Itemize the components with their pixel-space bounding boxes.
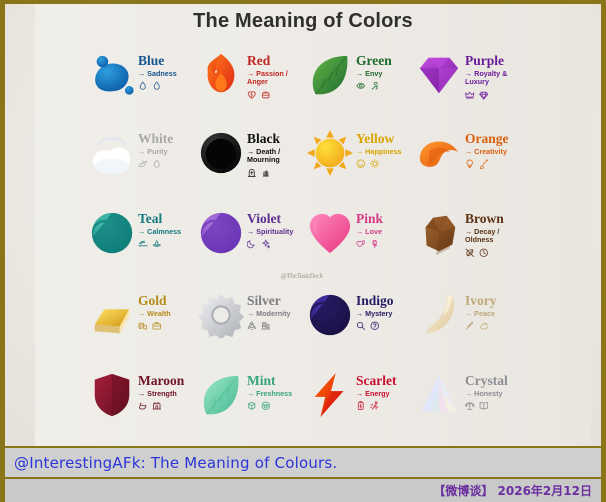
color-meaning: → Death / Mourning <box>247 148 307 166</box>
color-illustration <box>89 372 135 418</box>
color-name: Red <box>247 54 270 68</box>
color-icon-row <box>247 90 270 100</box>
color-entry-white: White→ Purity <box>89 124 198 204</box>
sun-illustration <box>307 130 353 182</box>
heart-illustration <box>307 210 353 262</box>
color-meaning: → Purity <box>138 148 168 157</box>
color-entry-brown: Brown→ Decay / Oldness <box>416 204 525 286</box>
building-icon <box>261 321 271 331</box>
spiral-illustration <box>307 292 353 344</box>
color-meaning: → Mystery <box>356 310 392 319</box>
color-icon-row <box>138 401 161 411</box>
color-icon-row <box>247 401 270 411</box>
cool-face-icon <box>261 401 271 411</box>
color-name: Mint <box>247 374 276 388</box>
color-entry-text: Maroon→ Strength <box>138 374 184 411</box>
color-icon-row <box>465 159 488 169</box>
rocket-icon <box>247 321 257 331</box>
color-entry-text: Scarlet→ Energy <box>356 374 396 411</box>
color-entry-red: Red→ Passion / Anger <box>198 46 307 124</box>
color-meaning: → Wealth <box>138 310 171 319</box>
color-meaning: → Envy <box>356 70 382 79</box>
clock-icon <box>479 248 489 258</box>
color-name: Yellow <box>356 132 394 146</box>
color-illustration <box>416 210 462 256</box>
caption-text: @InterestingAFk: The Meaning of Colours. <box>14 454 337 472</box>
color-icon-row <box>138 159 161 169</box>
color-illustration <box>307 52 353 98</box>
flame-illustration <box>198 52 244 104</box>
tusk-illustration <box>416 292 462 344</box>
color-meaning: → Energy <box>356 390 390 399</box>
color-name: Teal <box>138 212 162 226</box>
color-name: White <box>138 132 173 146</box>
color-entry-text: Black→ Death / Mourning <box>247 132 307 178</box>
color-entry-black: Black→ Death / Mourning <box>198 124 307 204</box>
dead-leaf-icon <box>465 248 475 258</box>
color-name: Black <box>247 132 280 146</box>
color-icon-row <box>247 321 270 331</box>
bar-illustration <box>89 292 135 344</box>
droplet-icon <box>152 159 162 169</box>
color-entry-green: Green→ Envy <box>307 46 416 124</box>
color-name: Blue <box>138 54 164 68</box>
shield-illustration <box>89 372 135 424</box>
bolt-illustration <box>307 372 353 424</box>
color-illustration <box>416 130 462 176</box>
color-entry-maroon: Maroon→ Strength <box>89 366 198 444</box>
blob-illustration <box>89 52 135 104</box>
color-icon-row <box>465 90 488 100</box>
color-entry-text: White→ Purity <box>138 132 173 169</box>
color-meaning: → Happiness <box>356 148 402 157</box>
color-illustration <box>416 52 462 98</box>
color-entry-crystal: Crystal→ Honesty <box>416 366 525 444</box>
diamond-icon <box>479 90 489 100</box>
circle-illustration <box>198 130 244 182</box>
color-meaning: → Spirituality <box>247 228 293 237</box>
color-meaning: → Honesty <box>465 390 503 399</box>
image-frame: The Meaning of Colors Blue→ SadnessRed→ … <box>0 0 606 498</box>
lightbulb-icon <box>465 159 475 169</box>
color-name: Violet <box>247 212 281 226</box>
crown-icon <box>465 90 475 100</box>
color-illustration <box>416 372 462 418</box>
color-icon-row <box>465 248 488 258</box>
color-illustration <box>198 130 244 176</box>
book-icon <box>479 401 489 411</box>
rose-icon <box>370 239 380 249</box>
color-illustration <box>89 130 135 176</box>
tombstone-icon <box>247 168 257 178</box>
caption-bar: @InterestingAFk: The Meaning of Colours. <box>5 446 601 479</box>
page-title: The Meaning of Colors <box>5 10 601 33</box>
color-entry-text: Red→ Passion / Anger <box>247 54 307 100</box>
color-entry-blue: Blue→ Sadness <box>89 46 198 124</box>
color-illustration <box>89 292 135 338</box>
color-icon-row <box>356 401 379 411</box>
color-name: Green <box>356 54 392 68</box>
color-meaning: → Strength <box>138 390 177 399</box>
color-icon-row <box>138 239 161 249</box>
color-icon-row <box>356 81 379 91</box>
date-text: 【微博谈】 2026年2月12日 <box>433 482 592 499</box>
color-entry-text: Indigo→ Mystery <box>356 294 394 331</box>
color-entry-text: Gold→ Wealth <box>138 294 171 331</box>
color-name: Orange <box>465 132 509 146</box>
color-icon-row <box>356 159 379 169</box>
color-illustration <box>89 52 135 98</box>
color-grid: Blue→ SadnessRed→ Passion / AngerGreen→ … <box>89 46 527 444</box>
color-name: Scarlet <box>356 374 396 388</box>
color-entry-purple: Purple→ Royalty & Luxury <box>416 46 525 124</box>
gear-illustration <box>198 292 244 344</box>
color-illustration <box>307 130 353 176</box>
fist-icon <box>261 90 271 100</box>
color-meaning: → Love <box>356 228 382 237</box>
moon-icon <box>247 239 257 249</box>
color-entry-text: Purple→ Royalty & Luxury <box>465 54 525 100</box>
date-bar: 【微博谈】 2026年2月12日 <box>5 479 601 502</box>
battery-icon <box>356 401 366 411</box>
dove-hand-icon <box>479 321 489 331</box>
color-icon-row <box>247 239 270 249</box>
color-entry-yellow: Yellow→ Happiness <box>307 124 416 204</box>
paintbrush-icon <box>479 159 489 169</box>
spiral-illustration <box>198 210 244 262</box>
color-entry-text: Orange→ Creativity <box>465 132 509 169</box>
color-entry-indigo: Indigo→ Mystery <box>307 286 416 366</box>
color-entry-gold: Gold→ Wealth <box>89 286 198 366</box>
color-meaning: → Decay / Oldness <box>465 228 525 246</box>
color-icon-row <box>138 81 161 91</box>
color-entry-mint: Mint→ Freshness <box>198 366 307 444</box>
wave-icon <box>138 239 148 249</box>
color-meaning: → Sadness <box>138 70 177 79</box>
infographic-poster: The Meaning of Colors Blue→ SadnessRed→ … <box>5 4 601 446</box>
color-name: Indigo <box>356 294 394 308</box>
color-entry-text: Teal→ Calmness <box>138 212 181 249</box>
color-icon-row <box>247 168 270 178</box>
color-name: Crystal <box>465 374 508 388</box>
runner-icon <box>370 401 380 411</box>
eye-icon <box>356 81 366 91</box>
color-illustration <box>198 210 244 256</box>
color-meaning: → Calmness <box>138 228 181 237</box>
color-illustration <box>198 372 244 418</box>
lotus-icon <box>152 239 162 249</box>
color-icon-row <box>465 401 488 411</box>
color-illustration <box>416 292 462 338</box>
color-entry-text: Brown→ Decay / Oldness <box>465 212 525 258</box>
heart-broken-icon <box>247 90 257 100</box>
watermark: @TheTasteDeck <box>281 272 323 280</box>
color-icon-row <box>356 321 379 331</box>
color-meaning: → Royalty & Luxury <box>465 70 525 88</box>
color-meaning: → Creativity <box>465 148 507 157</box>
droplet-icon <box>138 81 148 91</box>
droplet-icon <box>152 81 162 91</box>
cloud-illustration <box>89 130 135 182</box>
color-icon-row <box>138 321 161 331</box>
color-illustration <box>307 372 353 418</box>
spiral-illustration <box>89 210 135 262</box>
scales-icon <box>465 401 475 411</box>
color-entry-teal: Teal→ Calmness <box>89 204 198 286</box>
color-entry-text: Pink→ Love <box>356 212 383 249</box>
color-meaning: → Modernity <box>247 310 291 319</box>
color-entry-ivory: Ivory→ Peace <box>416 286 525 366</box>
color-entry-text: Violet→ Spirituality <box>247 212 293 249</box>
color-icon-row <box>465 321 488 331</box>
color-name: Silver <box>247 294 281 308</box>
color-entry-silver: Silver→ Modernity <box>198 286 307 366</box>
gem-illustration <box>416 52 462 104</box>
hand-icon <box>261 168 271 178</box>
swirl-illustration <box>416 130 462 182</box>
sun-icon <box>370 159 380 169</box>
question-icon <box>370 321 380 331</box>
color-entry-pink: Pink→ Love <box>307 204 416 286</box>
color-entry-text: Yellow→ Happiness <box>356 132 402 169</box>
color-illustration <box>89 210 135 256</box>
color-meaning: → Peace <box>465 310 495 319</box>
briefcase-icon <box>152 321 162 331</box>
color-illustration <box>307 210 353 256</box>
color-illustration <box>198 52 244 98</box>
castle-icon <box>152 401 162 411</box>
smiley-icon <box>356 159 366 169</box>
magnifier-icon <box>356 321 366 331</box>
color-icon-row <box>356 239 379 249</box>
color-entry-scarlet: Scarlet→ Energy <box>307 366 416 444</box>
color-name: Ivory <box>465 294 497 308</box>
bicep-icon <box>138 401 148 411</box>
coins-icon <box>138 321 148 331</box>
color-name: Pink <box>356 212 383 226</box>
color-entry-text: Crystal→ Honesty <box>465 374 508 411</box>
snake-icon <box>370 81 380 91</box>
color-entry-text: Blue→ Sadness <box>138 54 177 91</box>
rock-illustration <box>416 210 462 262</box>
color-meaning: → Freshness <box>247 390 292 399</box>
color-name: Purple <box>465 54 504 68</box>
color-meaning: → Passion / Anger <box>247 70 307 88</box>
leaf-illustration <box>307 52 353 104</box>
prism-illustration <box>416 372 462 424</box>
leaf-illustration <box>198 372 244 424</box>
color-entry-text: Silver→ Modernity <box>247 294 291 331</box>
color-entry-text: Mint→ Freshness <box>247 374 292 411</box>
ice-cube-icon <box>247 401 257 411</box>
olive-branch-icon <box>465 321 475 331</box>
hearts-icon <box>356 239 366 249</box>
color-name: Gold <box>138 294 167 308</box>
color-illustration <box>198 292 244 338</box>
color-name: Brown <box>465 212 504 226</box>
sparkle-icon <box>261 239 271 249</box>
color-entry-orange: Orange→ Creativity <box>416 124 525 204</box>
color-illustration <box>307 292 353 338</box>
color-entry-text: Ivory→ Peace <box>465 294 497 331</box>
dove-icon <box>138 159 148 169</box>
color-entry-text: Green→ Envy <box>356 54 392 91</box>
color-name: Maroon <box>138 374 184 388</box>
